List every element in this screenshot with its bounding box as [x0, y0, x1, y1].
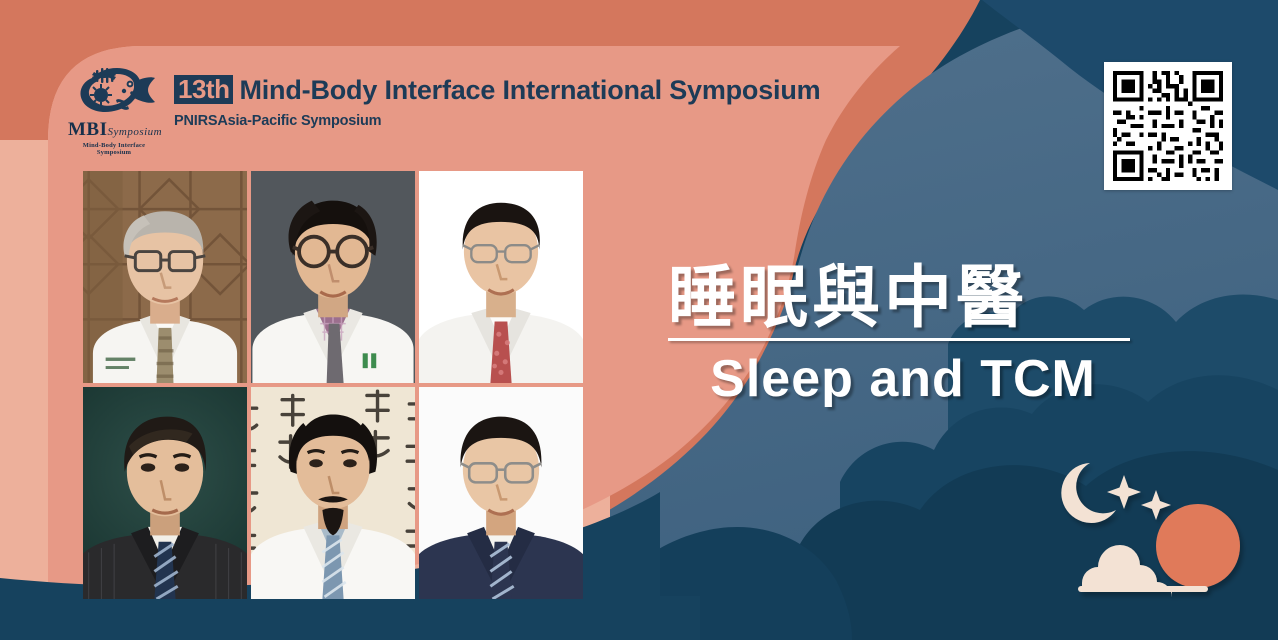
- speaker-portrait-icon: [419, 387, 583, 599]
- symposium-title-line: 13thMind-Body Interface International Sy…: [174, 76, 820, 105]
- qr-code-icon[interactable]: [1104, 62, 1232, 190]
- speaker-photo-2[interactable]: [251, 171, 415, 383]
- symposium-subtitle: PNIRSAsia-Pacific Symposium: [174, 113, 820, 129]
- qr-code[interactable]: [1104, 62, 1232, 190]
- branding-block: MBISymposium Mind-Body Interface Symposi…: [68, 62, 820, 156]
- brain-fish-logo-icon: [72, 62, 156, 120]
- bg-navy-bottom-rect: [0, 596, 700, 640]
- speaker-portrait-icon: [251, 387, 415, 599]
- title-underline: [668, 338, 1130, 341]
- speaker-photo-6[interactable]: [419, 387, 583, 599]
- logo-wordmark: MBISymposium: [68, 120, 160, 140]
- speaker-photo-4[interactable]: [83, 387, 247, 599]
- talk-title-en: Sleep and TCM: [668, 349, 1138, 409]
- speaker-portrait-icon: [419, 171, 583, 383]
- symposium-title-block: 13thMind-Body Interface International Sy…: [174, 62, 820, 129]
- speaker-photo-3[interactable]: [419, 171, 583, 383]
- edition-badge: 13th: [174, 75, 233, 104]
- talk-title-block: 睡眠與中醫 Sleep and TCM: [668, 262, 1138, 409]
- mbi-logo: MBISymposium Mind-Body Interface Symposi…: [68, 62, 160, 156]
- talk-title-zh: 睡眠與中醫: [668, 262, 1138, 335]
- logo-tagline: Mind-Body Interface Symposium: [68, 142, 160, 156]
- speaker-photo-1[interactable]: [83, 171, 247, 383]
- symposium-title-text: Mind-Body Interface International Sympos…: [239, 75, 820, 105]
- logo-word-sub: Symposium: [108, 126, 163, 138]
- logo-word-main: MBI: [68, 119, 108, 140]
- speaker-portrait-icon: [251, 171, 415, 383]
- speaker-photo-grid: [83, 171, 583, 599]
- speaker-portrait-icon: [83, 387, 247, 599]
- speaker-photo-5[interactable]: [251, 387, 415, 599]
- speaker-portrait-icon: [83, 171, 247, 383]
- symposium-poster: MBISymposium Mind-Body Interface Symposi…: [0, 0, 1278, 640]
